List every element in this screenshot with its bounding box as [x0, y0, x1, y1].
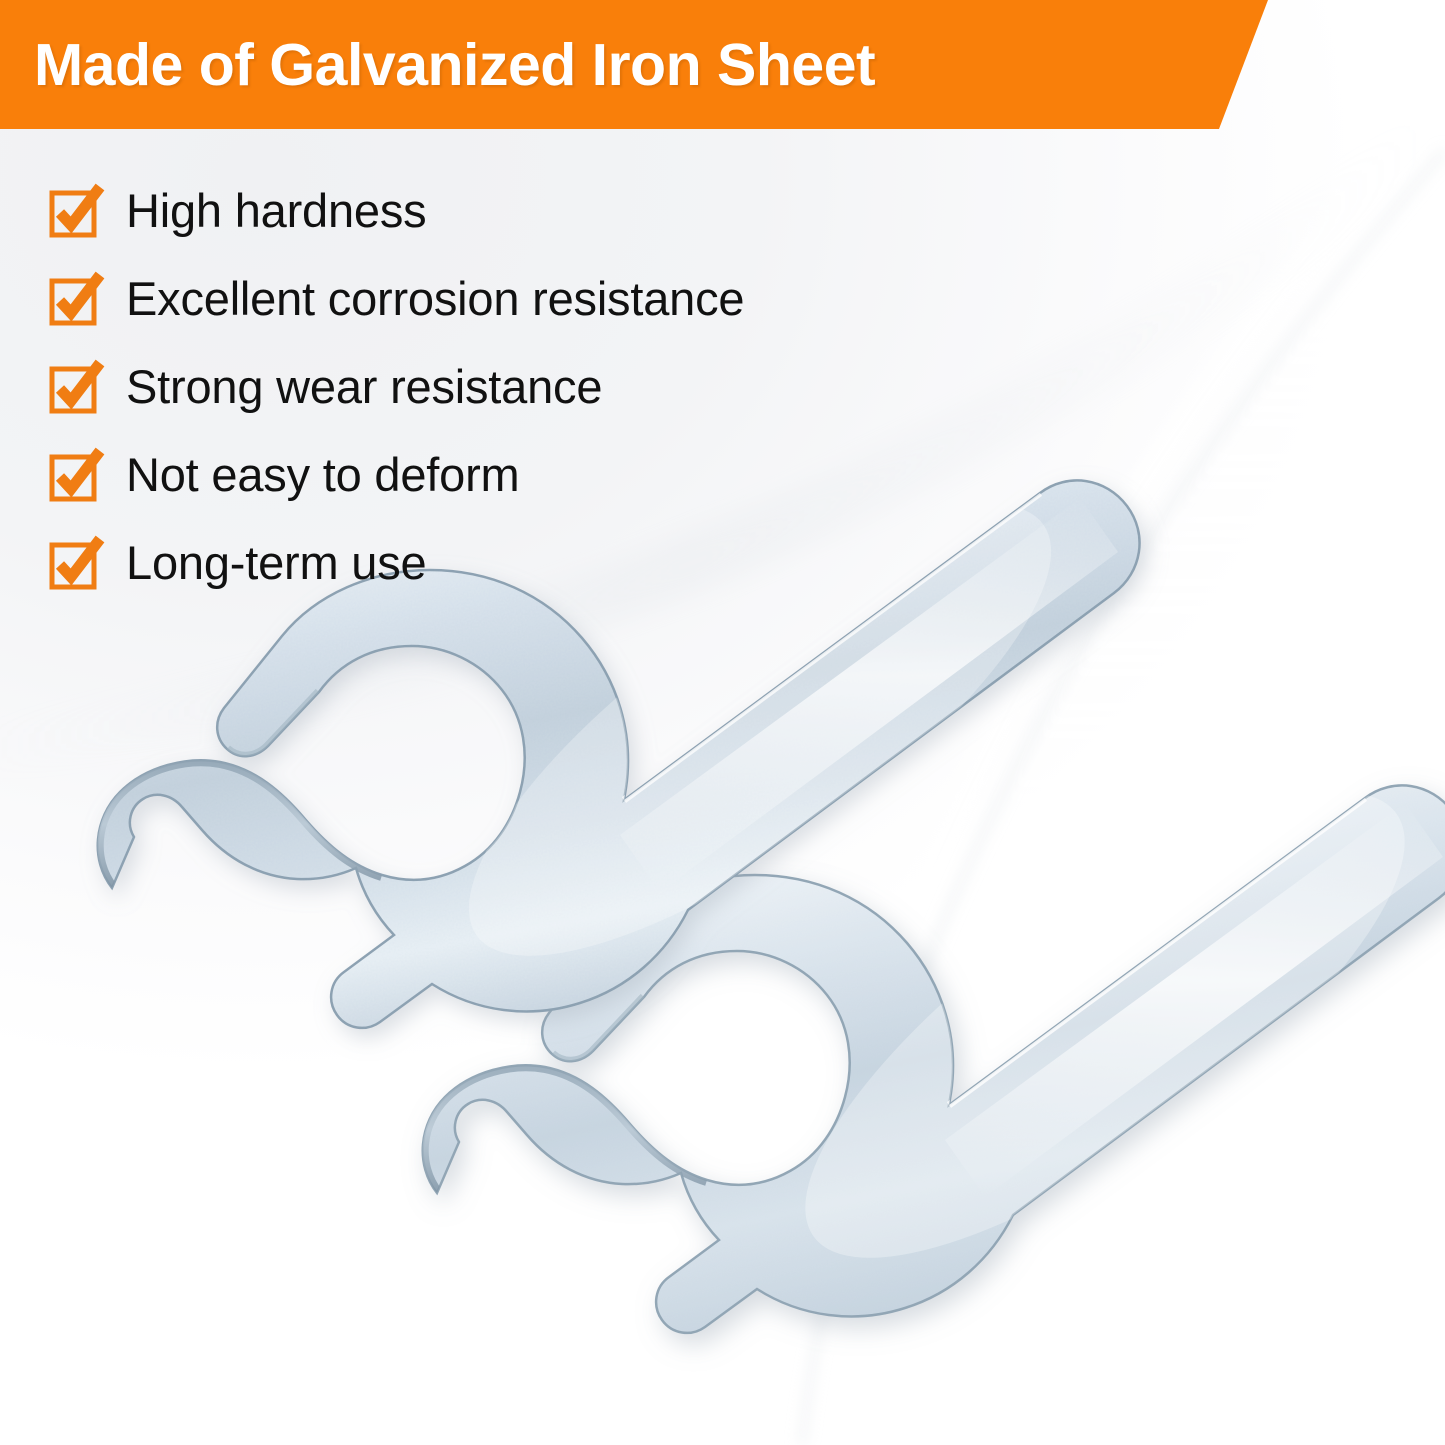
banner-title: Made of Galvanized Iron Sheet [34, 31, 875, 99]
feature-item: Long-term use [50, 518, 744, 606]
feature-item: Excellent corrosion resistance [50, 254, 744, 342]
feature-label: Long-term use [126, 539, 426, 586]
feature-label: High hardness [126, 187, 426, 234]
product-feature-image: Made of Galvanized Iron Sheet High hardn… [0, 0, 1445, 1445]
checked-checkbox-icon [50, 187, 96, 233]
feature-item: Strong wear resistance [50, 342, 744, 430]
checked-checkbox-icon [50, 539, 96, 585]
header-banner: Made of Galvanized Iron Sheet [0, 0, 1268, 129]
checked-checkbox-icon [50, 275, 96, 321]
feature-item: Not easy to deform [50, 430, 744, 518]
checked-checkbox-icon [50, 363, 96, 409]
checked-checkbox-icon [50, 451, 96, 497]
feature-item: High hardness [50, 166, 744, 254]
feature-label: Strong wear resistance [126, 363, 602, 410]
feature-label: Not easy to deform [126, 451, 519, 498]
feature-label: Excellent corrosion resistance [126, 275, 744, 322]
feature-list: High hardness Excellent corrosion resist… [50, 166, 744, 606]
